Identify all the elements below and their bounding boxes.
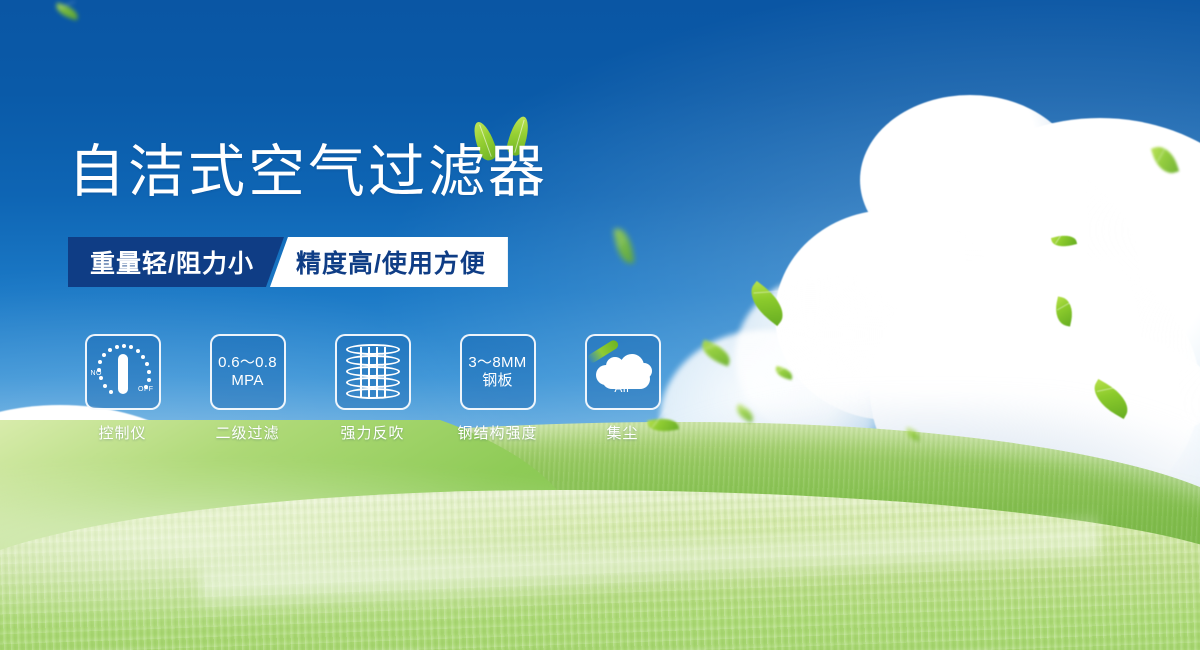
- grass-field: [0, 420, 1200, 650]
- feature-caption: 钢结构强度: [457, 422, 537, 443]
- feature-item[interactable]: NO OFF 控制仪: [70, 334, 175, 443]
- dial-icon: NO OFF: [91, 342, 155, 402]
- feature-caption: 二级过滤: [215, 422, 279, 443]
- feature-icon-box[interactable]: Air: [585, 334, 661, 410]
- feature-item[interactable]: 强力反吹: [320, 334, 425, 443]
- air-label: Air: [592, 381, 654, 395]
- feature-item[interactable]: 0.6～0.8 MPA 二级过滤: [195, 334, 300, 443]
- air-cloud-icon: Air: [592, 351, 654, 393]
- feature-icon-line1: 3～8MM: [468, 354, 526, 372]
- subtitle-segment-primary: 重量轻/阻力小: [68, 237, 284, 287]
- feature-icon-box[interactable]: NO OFF: [85, 334, 161, 410]
- feature-caption: 控制仪: [98, 422, 146, 443]
- subtitle-bar: 重量轻/阻力小 精度高/使用方便: [68, 237, 508, 287]
- feature-item[interactable]: Air 集尘: [570, 334, 675, 443]
- feature-icon-line1: 0.6～0.8: [218, 354, 277, 372]
- feature-icon-line2: 钢板: [482, 372, 513, 390]
- dial-label-off: OFF: [138, 386, 154, 393]
- feature-caption: 强力反吹: [340, 422, 404, 443]
- dial-needle: [118, 354, 128, 394]
- product-hero-banner: 自洁式空气过滤器 重量轻/阻力小 精度高/使用方便: [0, 0, 1200, 650]
- feature-icon-box[interactable]: [335, 334, 411, 410]
- page-title: 自洁式空气过滤器: [68, 144, 548, 201]
- subtitle-segment-secondary: 精度高/使用方便: [270, 237, 508, 287]
- feature-item[interactable]: 3～8MM 钢板 钢结构强度: [445, 334, 550, 443]
- feature-icon-line2: MPA: [231, 372, 263, 390]
- feature-caption: 集尘: [606, 422, 638, 443]
- filter-discs-icon: [346, 344, 400, 400]
- feature-icon-box[interactable]: 0.6～0.8 MPA: [210, 334, 286, 410]
- feature-list: NO OFF 控制仪 0.6～0.8 MPA 二级过滤: [70, 334, 675, 443]
- dial-label-no: NO: [91, 370, 103, 377]
- feature-icon-box[interactable]: 3～8MM 钢板: [460, 334, 536, 410]
